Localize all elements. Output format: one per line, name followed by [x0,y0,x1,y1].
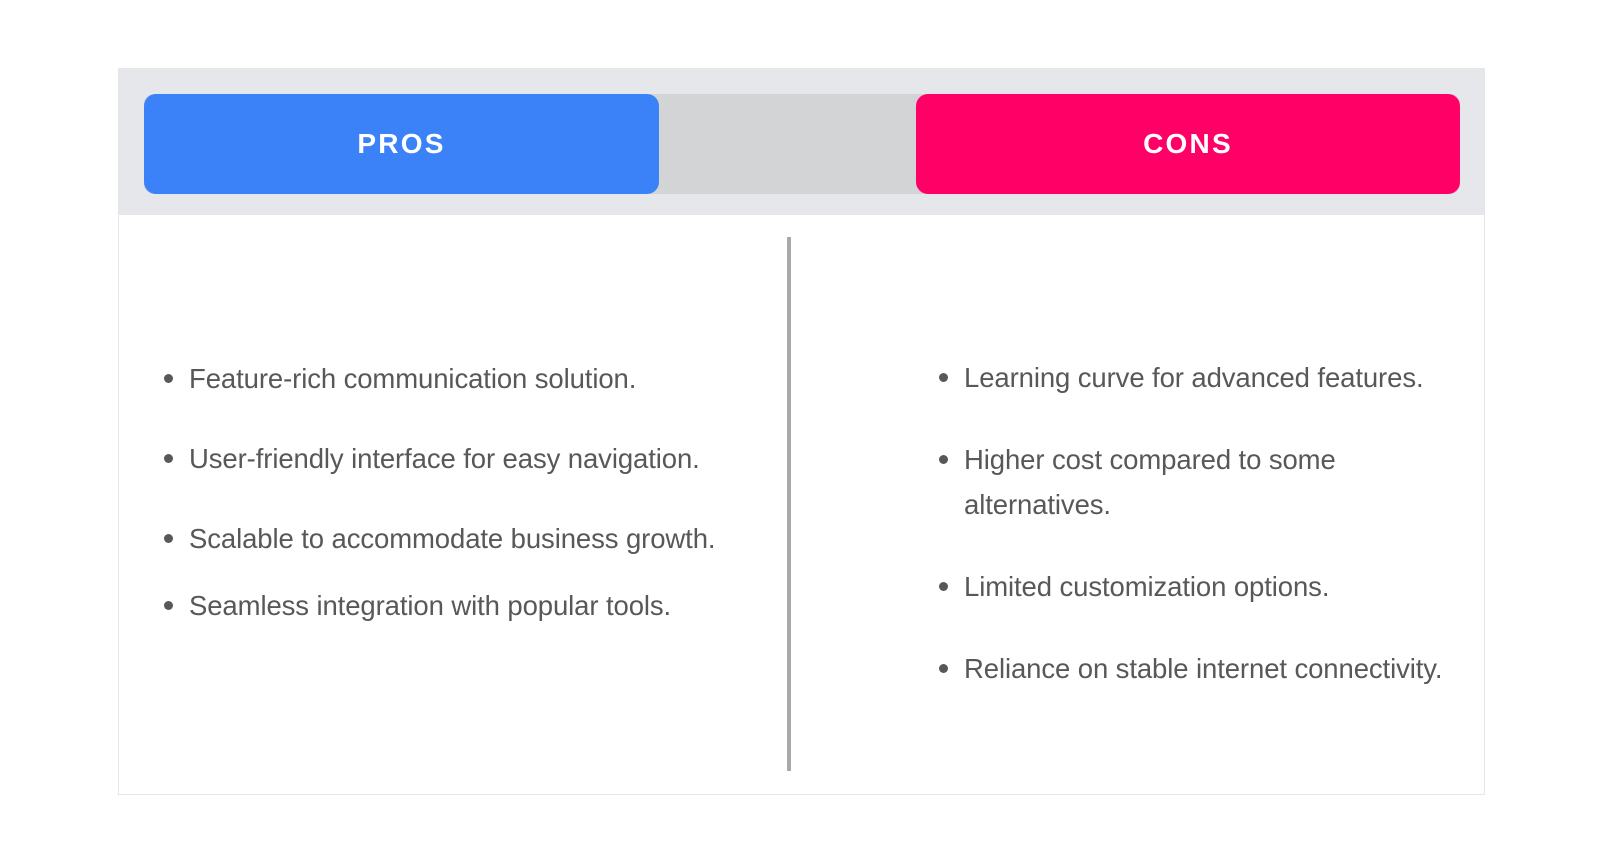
cons-column: Learning curve for advanced features. Hi… [919,215,1479,691]
bullet-icon [164,534,173,543]
bullet-icon [164,374,173,383]
list-item-text: Seamless integration with popular tools. [189,590,671,621]
card-body: Feature-rich communication solution. Use… [119,215,1484,794]
bullet-icon [164,601,173,610]
list-item: User-friendly interface for easy navigat… [144,436,774,481]
cons-header-pill[interactable]: CONS [916,94,1460,194]
list-item: Limited customization options. [919,564,1479,609]
list-item-text: Scalable to accommodate business growth. [189,523,715,554]
bullet-icon [939,582,948,591]
pros-header-label: PROS [357,128,445,160]
list-item-text: Feature-rich communication solution. [189,363,636,394]
list-item: Seamless integration with popular tools. [144,583,774,628]
list-item-text: Higher cost compared to some alternative… [964,444,1336,520]
list-item: Reliance on stable internet connectivity… [919,646,1479,691]
list-item: Learning curve for advanced features. [919,355,1479,400]
pros-list: Feature-rich communication solution. Use… [144,215,774,628]
pros-column: Feature-rich communication solution. Use… [144,215,774,628]
column-divider [787,237,791,771]
pros-cons-card: PROS CONS Feature-rich communication sol… [118,68,1485,795]
pros-header-pill[interactable]: PROS [144,94,659,194]
cons-header-label: CONS [1143,128,1233,160]
header-band: PROS CONS [119,69,1484,215]
list-item-text: Limited customization options. [964,571,1329,602]
list-item: Feature-rich communication solution. [144,356,774,401]
bullet-icon [939,373,948,382]
cons-list: Learning curve for advanced features. Hi… [919,215,1479,691]
bullet-icon [939,664,948,673]
list-item: Higher cost compared to some alternative… [919,437,1479,527]
bullet-icon [164,454,173,463]
bullet-icon [939,455,948,464]
list-item: Scalable to accommodate business growth. [144,516,774,561]
list-item-text: Reliance on stable internet connectivity… [964,653,1442,684]
list-item-text: User-friendly interface for easy navigat… [189,443,700,474]
list-item-text: Learning curve for advanced features. [964,362,1424,393]
